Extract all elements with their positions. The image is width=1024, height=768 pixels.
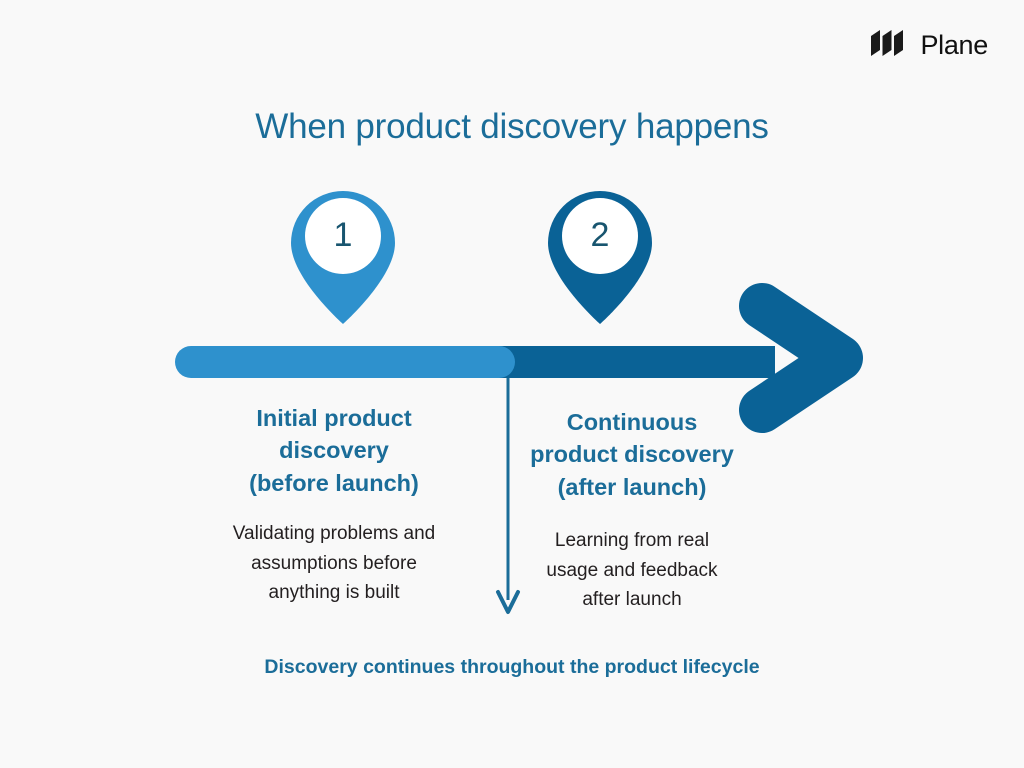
phase-2-description: Learning from real usage and feedback af… xyxy=(524,526,740,614)
phase-1-heading-line-3: (before launch) xyxy=(178,467,490,499)
timeline-segment-phase-1 xyxy=(175,346,515,378)
phase-2-heading-line-2: product discovery xyxy=(524,438,740,470)
phase-2-description-line-2: usage and feedback xyxy=(524,556,740,585)
timeline-marker-2 xyxy=(548,191,652,324)
phase-1-heading: Initial product discovery (before launch… xyxy=(178,402,490,499)
timeline-diagram xyxy=(0,0,1024,768)
phase-divider-down-arrow-icon xyxy=(498,378,518,612)
timeline-marker-1 xyxy=(291,191,395,324)
phase-1-description-line-3: anything is built xyxy=(178,578,490,607)
phase-1-description-line-2: assumptions before xyxy=(178,549,490,578)
phase-2-text-block: Continuous product discovery (after laun… xyxy=(524,406,740,615)
infographic-canvas: Plane When product discovery happens xyxy=(0,0,1024,768)
phase-2-heading: Continuous product discovery (after laun… xyxy=(524,406,740,503)
phase-2-description-line-1: Learning from real xyxy=(524,526,740,555)
phase-2-heading-line-3: (after launch) xyxy=(524,471,740,503)
phase-2-description-line-3: after launch xyxy=(524,585,740,614)
phase-1-description: Validating problems and assumptions befo… xyxy=(178,519,490,607)
phase-1-text-block: Initial product discovery (before launch… xyxy=(178,402,490,608)
phase-1-description-line-1: Validating problems and xyxy=(178,519,490,548)
marker-number-2: 2 xyxy=(560,218,640,252)
marker-number-1: 1 xyxy=(303,218,383,252)
footer-caption: Discovery continues throughout the produ… xyxy=(0,656,1024,679)
phase-2-heading-line-1: Continuous xyxy=(524,406,740,438)
phase-1-heading-line-1: Initial product xyxy=(178,402,490,434)
phase-1-heading-line-2: discovery xyxy=(178,434,490,466)
